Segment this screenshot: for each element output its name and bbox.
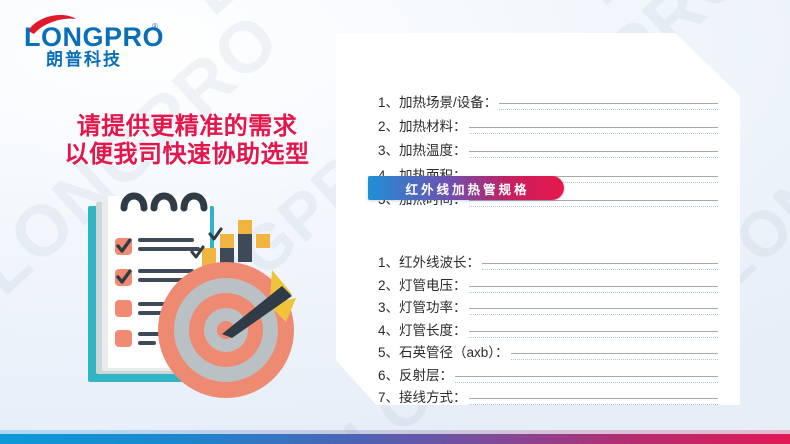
page-title-line-1: 请提供更精准的需求 xyxy=(52,113,322,141)
section-banner: 红外线加热管规格 xyxy=(368,176,564,200)
field-label: 5、 xyxy=(378,345,399,360)
field-label: 8、 xyxy=(378,413,399,428)
form-field-row: 6、 反射层： xyxy=(378,368,718,383)
field-label: 1、 xyxy=(378,95,399,110)
field-label: 7、 xyxy=(378,390,399,405)
field-input-line[interactable] xyxy=(469,200,718,207)
section-banner-title: 红外线加热管规格 xyxy=(402,179,529,198)
form-field-row: 7、 接线方式： xyxy=(378,390,718,405)
field-input-line[interactable] xyxy=(469,398,718,405)
field-label: 3、 xyxy=(378,143,399,158)
field-input-line[interactable] xyxy=(469,127,718,134)
field-label: 1、 xyxy=(378,255,399,270)
field-label: 加热场景/设备： xyxy=(399,95,497,110)
watermark-text: LONGPRO xyxy=(170,0,506,31)
logo-wordmark: LONGPRO xyxy=(24,22,164,52)
field-label: 反射层： xyxy=(399,368,453,383)
field-input-line[interactable] xyxy=(469,308,718,315)
form-field-row: 4、 灯管长度： xyxy=(378,323,718,338)
form-field-row: 8、 摆放方式： xyxy=(378,413,718,428)
watermark-text: LONGPRO xyxy=(560,0,790,21)
form-sheet: 1、 加热场景/设备： 2、 加热材料： 3、 加热温度： 4、 加热面积： xyxy=(336,33,740,405)
form-field-row: 1、 红外线波长： xyxy=(378,255,718,270)
field-label: 3、 xyxy=(378,300,399,315)
field-label: 2、 xyxy=(378,278,399,293)
form-field-row: 5、 石英管径（axb）： xyxy=(378,345,718,360)
checklist-target-illustration xyxy=(86,190,316,405)
form-field-row: 2、 灯管电压： xyxy=(378,278,718,293)
field-input-line[interactable] xyxy=(469,331,718,338)
page-title-line-2: 以便我司快速协助选型 xyxy=(52,141,322,169)
field-label: 灯管电压： xyxy=(399,278,467,293)
field-label: 摆放方式： xyxy=(399,413,467,428)
form-field-row: 2、 加热材料： xyxy=(378,119,718,134)
field-label: 灯管长度： xyxy=(399,323,467,338)
field-input-line[interactable] xyxy=(511,353,718,360)
registered-trademark-icon: ® xyxy=(152,22,158,31)
field-input-line[interactable] xyxy=(455,376,718,383)
field-label: 石英管径（axb）： xyxy=(399,345,509,360)
company-logo: LONGPRO ® 朗普科技 xyxy=(22,9,172,69)
field-label: 加热温度： xyxy=(399,143,467,158)
field-input-line[interactable] xyxy=(469,151,718,158)
field-label: 2、 xyxy=(378,119,399,134)
form-field-row: 3、 灯管功率： xyxy=(378,300,718,315)
field-input-line[interactable] xyxy=(469,421,718,428)
footer-gradient-bar xyxy=(0,434,790,444)
lamp-spec-list: 1、 红外线波长： 2、 灯管电压： 3、 灯管功率： 4、 灯管长度： xyxy=(336,255,740,435)
logo-subtitle-cn: 朗普科技 xyxy=(46,49,122,69)
field-input-line[interactable] xyxy=(482,263,718,270)
field-label: 加热材料： xyxy=(399,119,467,134)
form-field-row: 3、 加热温度： xyxy=(378,143,718,158)
field-label: 灯管功率： xyxy=(399,300,467,315)
field-input-line[interactable] xyxy=(499,103,718,110)
slide-canvas: LONGPRO LONGPRO LONGPRO LONGPRO LONGPRO … xyxy=(0,0,790,444)
field-label: 红外线波长： xyxy=(399,255,480,270)
field-label: 4、 xyxy=(378,323,399,338)
form-field-row: 1、 加热场景/设备： xyxy=(378,95,718,110)
field-label: 接线方式： xyxy=(399,390,467,405)
field-input-line[interactable] xyxy=(469,286,718,293)
page-title: 请提供更精准的需求 以便我司快速协助选型 xyxy=(52,113,322,169)
field-label: 6、 xyxy=(378,368,399,383)
